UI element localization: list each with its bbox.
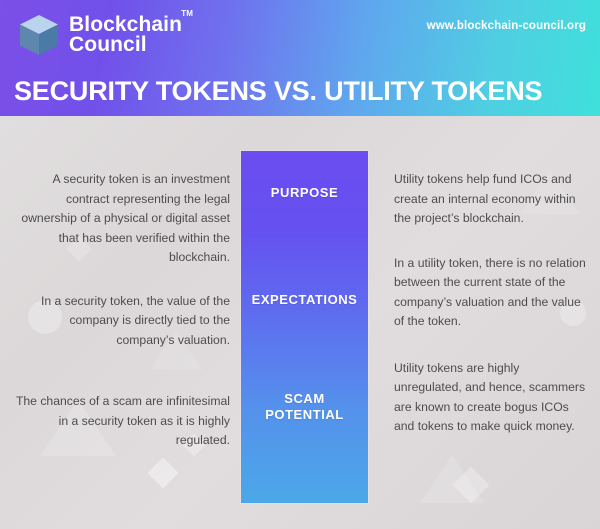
utility-tokens-purpose-text: Utility tokens help fund ICOs and create… (394, 170, 590, 229)
page-title: SECURITY TOKENS VS. UTILITY TOKENS (14, 76, 542, 106)
header-banner: Blockchain Council TM www.blockchain-cou… (0, 0, 600, 116)
comparison-category-panel: PURPOSE EXPECTATIONS SCAM POTENTIAL (241, 151, 368, 503)
brand-logo[interactable]: Blockchain Council TM (18, 13, 182, 57)
security-tokens-scam-potential-text: The chances of a scam are infinitesimal … (12, 392, 230, 451)
category-label-scam-potential-line-2: POTENTIAL (265, 407, 344, 422)
category-label-scam-potential: SCAM POTENTIAL (241, 391, 368, 423)
category-label-scam-potential-line-1: SCAM (284, 391, 324, 406)
category-label-expectations: EXPECTATIONS (241, 292, 368, 308)
utility-tokens-expectations-text: In a utility token, there is no relation… (394, 254, 590, 332)
brand-line-1: Blockchain (69, 15, 182, 35)
background-triangle (420, 455, 484, 503)
website-url[interactable]: www.blockchain-council.org (427, 20, 586, 32)
security-tokens-expectations-text: In a security token, the value of the co… (12, 292, 230, 351)
brand-line-2: Council (69, 35, 182, 55)
brand-name: Blockchain Council TM (69, 15, 182, 55)
background-diamond (147, 457, 178, 488)
utility-tokens-column: Utility tokens help fund ICOs and create… (394, 170, 590, 437)
trademark-symbol: TM (181, 10, 193, 18)
security-tokens-purpose-text: A security token is an investment contra… (12, 170, 230, 268)
infographic-canvas: Blockchain Council TM www.blockchain-cou… (0, 0, 600, 529)
security-tokens-column: A security token is an investment contra… (12, 170, 230, 451)
utility-tokens-scam-potential-text: Utility tokens are highly unregulated, a… (394, 359, 590, 437)
cube-icon (18, 13, 60, 57)
background-diamond (453, 467, 490, 504)
category-label-purpose: PURPOSE (241, 185, 368, 201)
